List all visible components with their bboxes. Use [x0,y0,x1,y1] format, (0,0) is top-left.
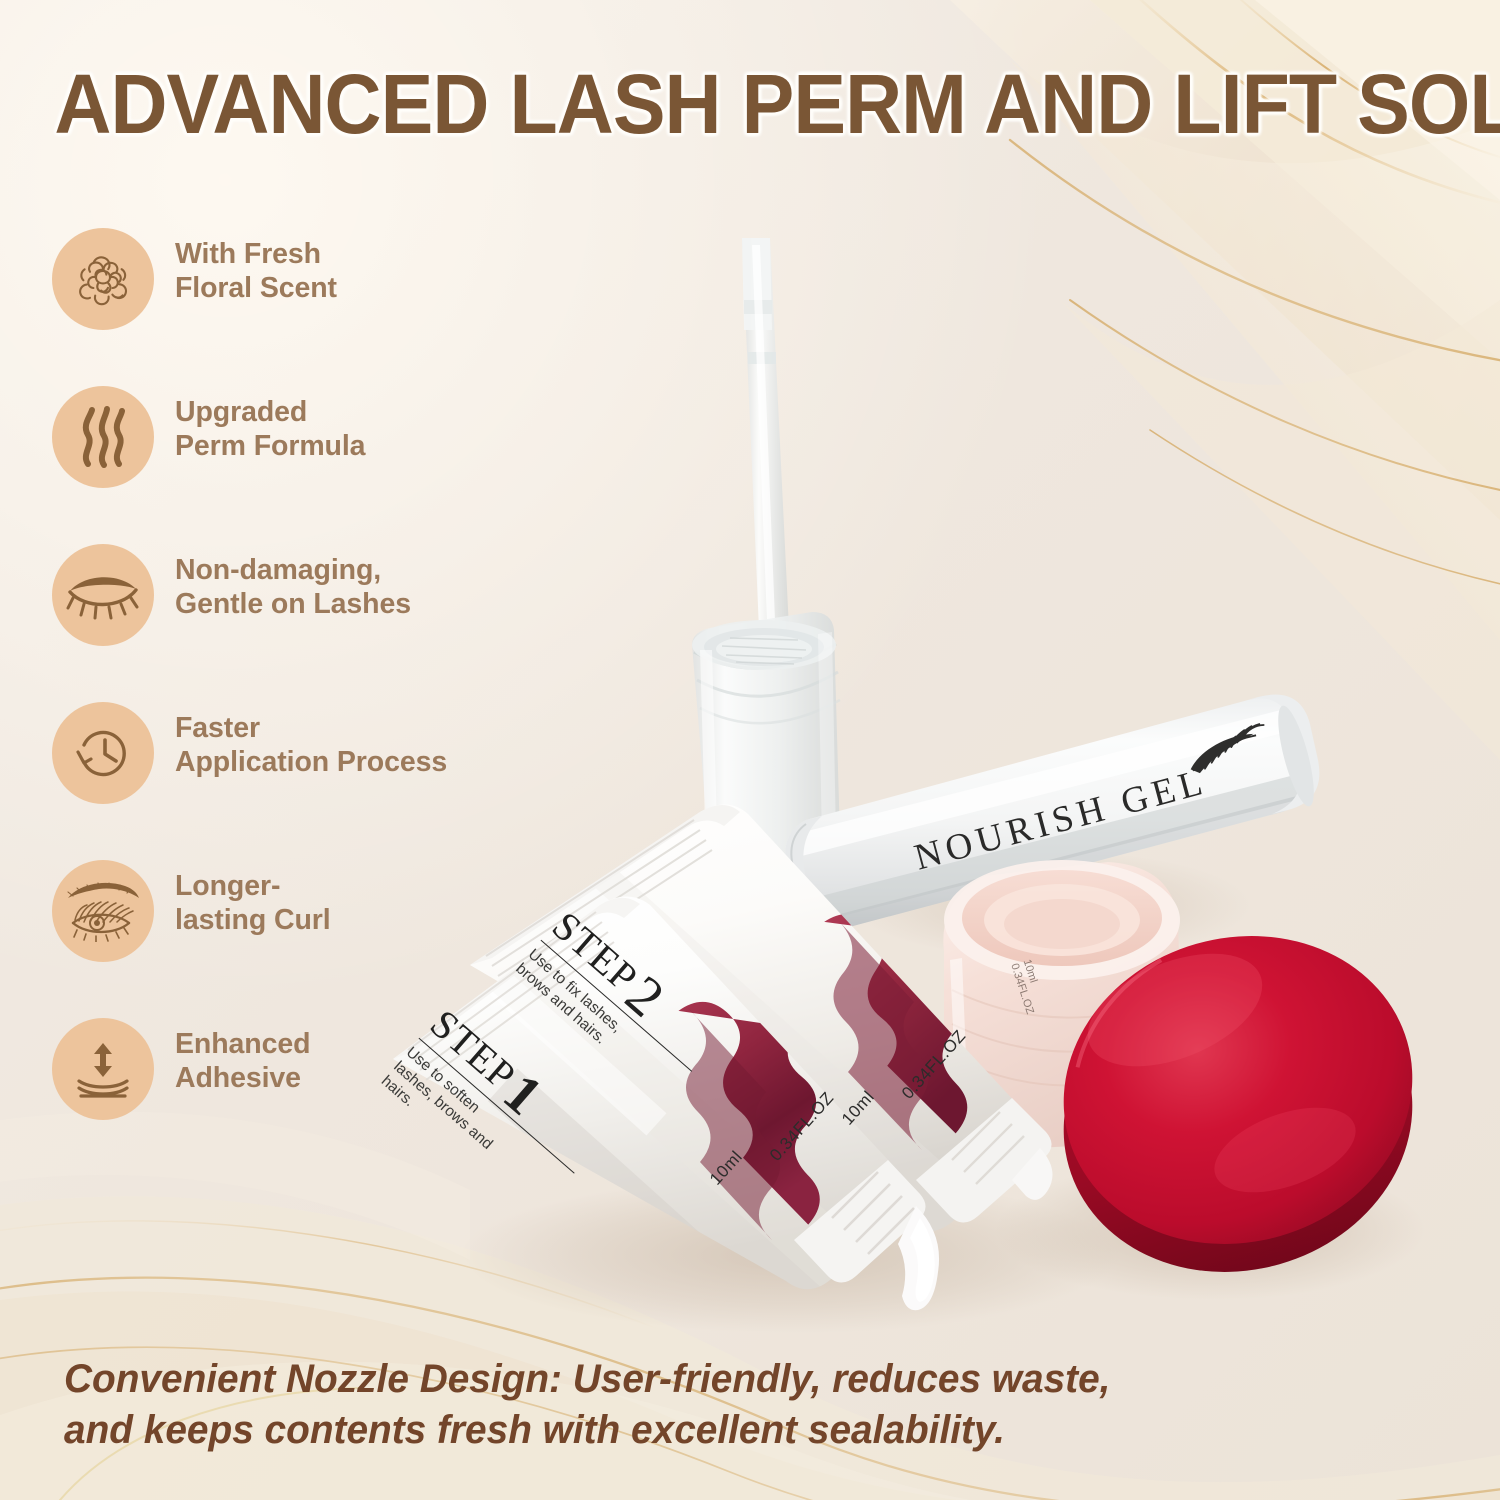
feature-item-enhanced-adhesive: Enhanced Adhesive [52,1018,472,1176]
rose-flower-icon [52,228,154,330]
perm-waves-icon [52,386,154,488]
product-infographic: ADVANCED LASH PERM AND LIFT SOLUTION [0,0,1500,1500]
feature-label: Enhanced Adhesive [175,1027,475,1095]
footer-caption: Convenient Nozzle Design: User-friendly,… [64,1354,1150,1456]
feature-label: With Fresh Floral Scent [175,237,475,305]
feature-label: Longer- lasting Curl [175,869,475,937]
closed-eye-lashes-icon [52,544,154,646]
feature-label: Non-damaging, Gentle on Lashes [175,553,475,621]
feature-label: Faster Application Process [175,711,475,779]
page-title-text: ADVANCED LASH PERM AND LIFT SOLUTION [54,62,1500,146]
feature-item-floral-scent: With Fresh Floral Scent [52,228,472,386]
feature-item-faster-application: Faster Application Process [52,702,472,860]
feature-item-non-damaging: Non-damaging, Gentle on Lashes [52,544,472,702]
feature-label: Upgraded Perm Formula [175,395,475,463]
feature-item-perm-formula: Upgraded Perm Formula [52,386,472,544]
eye-brow-curl-icon [52,860,154,962]
adhesive-elasticity-icon [52,1018,154,1120]
applicator-bottle-graphic [692,238,840,878]
clock-rotate-icon [52,702,154,804]
page-title: ADVANCED LASH PERM AND LIFT SOLUTION [0,62,1500,146]
feature-list: With Fresh Floral Scent Upgraded Perm Fo… [52,228,472,1176]
feature-item-longer-curl: Longer- lasting Curl [52,860,472,1018]
